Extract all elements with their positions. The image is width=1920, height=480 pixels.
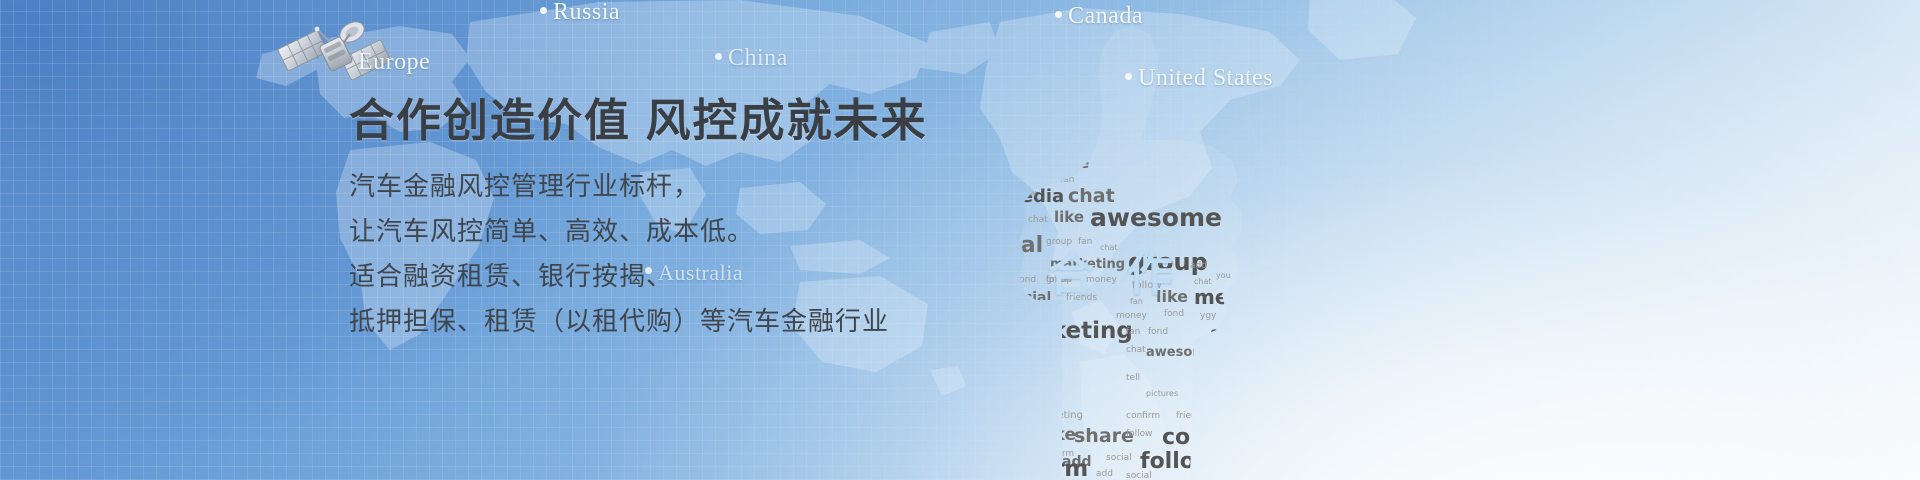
map-dot-icon [1125, 73, 1132, 80]
svg-text:friends: friends [954, 421, 1037, 445]
banner-copy: 合作创造价值 风控成就未来 汽车金融风控管理行业标杆， 让汽车风控简单、高效、成… [349, 96, 1109, 344]
svg-text:fond: fond [1164, 309, 1184, 319]
svg-text:add: add [1062, 454, 1092, 470]
map-dot-icon [715, 53, 722, 60]
svg-text:like: like [1156, 287, 1188, 306]
svg-text:follow: follow [1126, 429, 1153, 439]
svg-text:chat: chat [1194, 277, 1212, 286]
svg-text:friends: friends [1176, 411, 1207, 421]
map-dot-icon [1055, 11, 1062, 18]
map-dot-icon [540, 7, 547, 14]
hero-banner: Russia Europe China Canada United States… [0, 0, 1920, 480]
svg-text:chat: chat [1126, 345, 1146, 355]
svg-text:social: social [1106, 453, 1132, 463]
svg-text:pictures: pictures [1146, 389, 1178, 398]
svg-text:follow: follow [1132, 280, 1162, 291]
map-label-canada: Canada [1055, 2, 1143, 30]
svg-text:awesome: awesome [1090, 203, 1222, 232]
svg-text:you: you [950, 391, 967, 401]
svg-text:confirm: confirm [1040, 449, 1074, 459]
svg-text:hot: hot [958, 354, 986, 372]
svg-text:share: share [1074, 425, 1134, 447]
svg-text:follow: follow [1140, 449, 1215, 474]
banner-headline: 合作创造价值 风控成就未来 [349, 96, 1109, 146]
map-label-russia: Russia [540, 0, 620, 26]
svg-text:add: add [1256, 451, 1280, 475]
svg-text:like: like [1042, 425, 1076, 445]
svg-text:social: social [1028, 68, 1057, 79]
svg-text:fan: fan [1130, 297, 1143, 306]
svg-text:group: group [1250, 473, 1276, 480]
svg-text:social: social [1210, 323, 1271, 345]
svg-text:ygy: ygy [1200, 311, 1217, 321]
svg-text:group: group [1240, 397, 1266, 407]
svg-text:tell: tell [1126, 373, 1140, 383]
map-label-europe: Europe [358, 48, 430, 76]
svg-text:fan: fan [1126, 327, 1140, 337]
svg-text:add: add [1096, 469, 1113, 479]
svg-text:group: group [1128, 248, 1208, 276]
svg-text:tweet: tweet [1200, 377, 1255, 397]
svg-text:chat: chat [1032, 49, 1072, 68]
svg-text:awesome: awesome [1146, 345, 1215, 360]
svg-text:marketing: marketing [996, 359, 1042, 369]
svg-text:media: media [1024, 75, 1079, 94]
svg-text:media: media [1194, 285, 1263, 309]
svg-text:marketing: marketing [1032, 410, 1083, 421]
svg-text:team: team [1266, 429, 1280, 439]
svg-text:chat: chat [1246, 429, 1280, 453]
svg-text:social: social [1126, 471, 1152, 480]
svg-text:chat: chat [1226, 309, 1246, 319]
svg-text:social: social [950, 407, 976, 417]
svg-text:confirm: confirm [1126, 411, 1160, 421]
svg-text:add: add [1190, 261, 1207, 271]
svg-text:community: community [1162, 425, 1280, 450]
svg-text:follow: follow [1198, 471, 1225, 480]
svg-text:follow: follow [952, 377, 979, 387]
banner-subline-2: 让汽车风控简单、高效、成本低。 [349, 209, 1109, 254]
svg-text:team: team [988, 411, 1011, 421]
svg-text:friends: friends [990, 397, 1021, 407]
svg-text:chat: chat [1212, 349, 1259, 371]
svg-text:like: like [1034, 34, 1064, 52]
banner-subline-4: 抵押担保、租赁（以租代购）等汽车金融行业 [349, 299, 1109, 344]
svg-text:follow: follow [952, 451, 979, 461]
svg-text:fan: fan [952, 345, 966, 355]
svg-text:you: you [1216, 271, 1231, 280]
svg-text:fond: fond [1148, 327, 1168, 337]
map-label-china: China [715, 44, 788, 72]
banner-subline-3: 适合融资租赁、银行按揭、 [349, 254, 1109, 299]
map-label-united-states: United States [1125, 64, 1273, 92]
svg-text:friends: friends [1202, 401, 1233, 411]
svg-text:add: add [980, 378, 1010, 394]
svg-text:money: money [1116, 311, 1148, 321]
svg-text:confirm: confirm [990, 456, 1088, 480]
banner-subline-1: 汽车金融风控管理行业标杆， [349, 164, 1109, 209]
svg-text:friends: friends [992, 455, 1023, 465]
svg-text:hot: hot [1222, 447, 1252, 466]
